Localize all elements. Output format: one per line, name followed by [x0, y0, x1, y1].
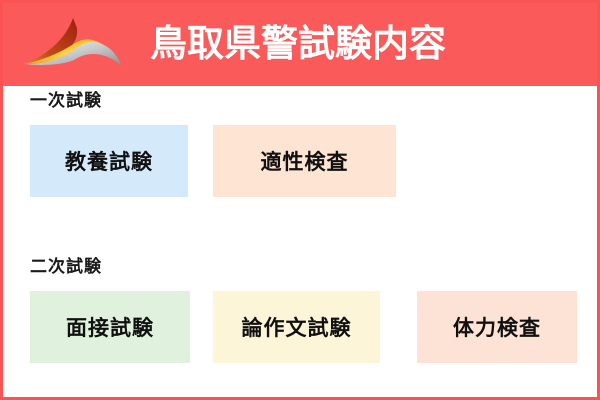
chip-row-second: 面接試験 論作文試験 体力検査: [3, 282, 597, 363]
card-body: 一次試験 教養試験 適性検査 二次試験 面接試験 論作文試験 体力検査: [3, 86, 597, 397]
section-heading-first: 一次試験: [3, 86, 597, 116]
section-heading-second: 二次試験: [3, 252, 597, 282]
card-header: 鳥取県警試験内容: [0, 0, 600, 86]
page-title: 鳥取県警試験内容: [150, 25, 446, 62]
section-first-exam: 一次試験 教養試験 適性検査: [3, 86, 597, 197]
exam-chip-tekisei-kensa[interactable]: 適性検査: [213, 125, 396, 197]
tottori-police-bird-logo: [18, 14, 128, 76]
exam-chip-mensetsu-shiken[interactable]: 面接試験: [30, 291, 190, 363]
exam-content-card: 鳥取県警試験内容 一次試験 教養試験 適性検査 二次試験 面接試験 論作文試験 …: [0, 0, 600, 400]
chip-row-first: 教養試験 適性検査: [3, 116, 597, 197]
section-second-exam: 二次試験 面接試験 論作文試験 体力検査: [3, 252, 597, 363]
exam-chip-tairyoku-kensa[interactable]: 体力検査: [417, 291, 577, 363]
exam-chip-ronsakubun-shiken[interactable]: 論作文試験: [213, 291, 380, 363]
exam-chip-kyoyo-shiken[interactable]: 教養試験: [30, 125, 188, 197]
